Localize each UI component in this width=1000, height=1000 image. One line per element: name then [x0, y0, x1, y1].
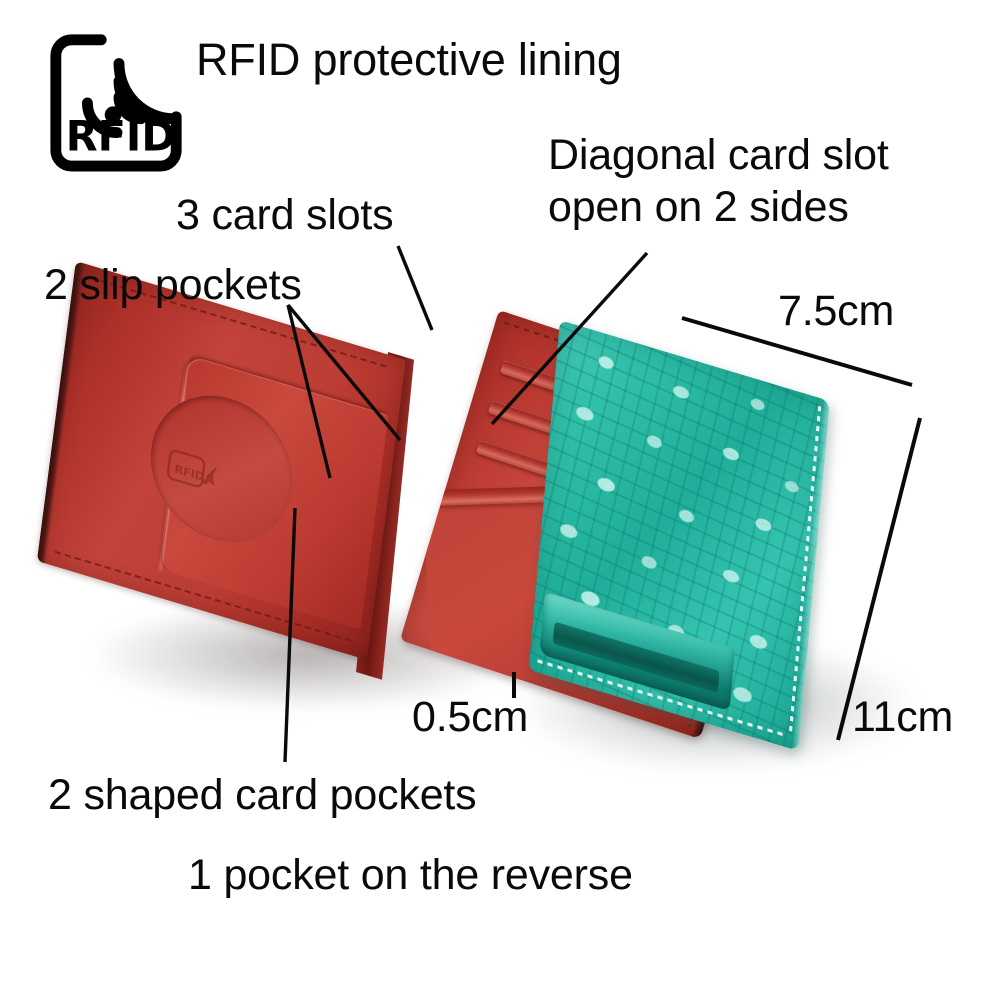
label-diagonal-slot-line2: open on 2 sides	[548, 184, 849, 230]
edge-highlight	[792, 399, 831, 751]
label-rfid-lining: RFID protective lining	[196, 36, 622, 85]
svg-text:RFID: RFID	[66, 112, 176, 160]
rfid-icon: RFID	[44, 26, 192, 174]
wallet-left-flap: RFID	[37, 261, 406, 660]
label-shaped-card-pockets: 2 shaped card pockets	[48, 772, 476, 818]
product-annotation-image: RFID SageBrown LONDON	[0, 0, 1000, 1000]
label-dimension-thickness: 0.5cm	[412, 694, 528, 740]
label-card-slots: 3 card slots	[176, 192, 393, 238]
teal-croc-wallet	[540, 300, 920, 740]
stitch-line	[789, 406, 822, 737]
label-reverse-pocket: 1 pocket on the reverse	[188, 852, 633, 898]
label-diagonal-slot-line1: Diagonal card slot	[548, 132, 889, 178]
label-dimension-width: 7.5cm	[778, 288, 894, 334]
label-slip-pockets: 2 slip pockets	[44, 262, 302, 308]
label-dimension-height: 11cm	[852, 694, 953, 740]
